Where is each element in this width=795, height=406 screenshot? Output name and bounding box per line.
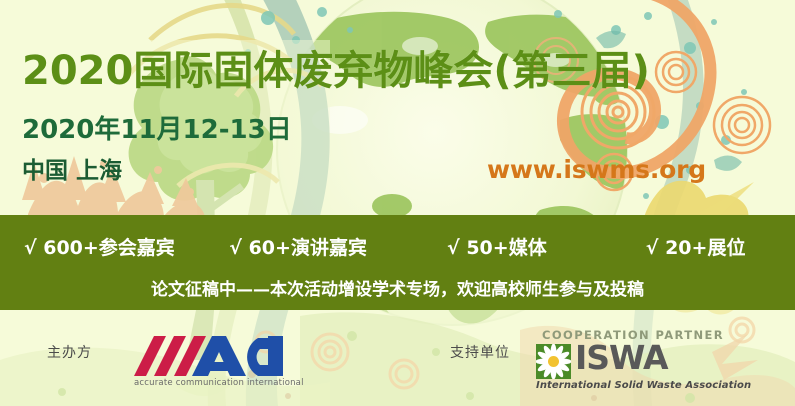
stat-attendees: √ 600+参会嘉宾 xyxy=(0,233,199,260)
aci-logo: accurate communication international xyxy=(128,332,288,392)
stats-row: √ 600+参会嘉宾 √ 60+演讲嘉宾 √ 50+媒体 √ 20+展位 xyxy=(0,229,795,263)
conference-banner-poster: 2020国际固体废弃物峰会(第三届) 2020年11月12-13日 中国 上海 … xyxy=(0,0,795,406)
website-url[interactable]: www.iswms.org xyxy=(487,157,706,182)
iswa-subtitle: International Solid Waste Association xyxy=(536,380,751,391)
stat-speakers: √ 60+演讲嘉宾 xyxy=(199,233,398,260)
event-location: 中国 上海 xyxy=(22,160,122,183)
page-title: 2020国际固体废弃物峰会(第三届) xyxy=(22,51,650,91)
iswa-daisy-icon xyxy=(536,344,571,379)
event-date: 2020年11月12-13日 xyxy=(22,117,292,143)
poster-header: 2020国际固体废弃物峰会(第三届) 2020年11月12-13日 中国 上海 … xyxy=(0,0,795,215)
iswa-logo: COOPERATION PARTNER xyxy=(536,328,766,398)
organizer-label: 主办方 xyxy=(47,342,92,362)
aci-logo-mark xyxy=(128,332,288,380)
poster-footer: 主办方 accurate communication international… xyxy=(0,310,795,406)
supporter-label: 支持单位 xyxy=(450,342,510,362)
stat-media: √ 50+媒体 xyxy=(398,233,597,260)
stat-booths: √ 20+展位 xyxy=(596,233,795,260)
aci-tagline: accurate communication international xyxy=(134,378,288,388)
daisy-icon xyxy=(536,344,571,379)
iswa-wordmark: ISWA xyxy=(575,341,668,374)
highlights-band: √ 600+参会嘉宾 √ 60+演讲嘉宾 √ 50+媒体 √ 20+展位 论文征… xyxy=(0,215,795,310)
call-for-papers-text: 论文征稿中——本次活动增设学术专场，欢迎高校师生参与及投稿 xyxy=(0,275,795,300)
